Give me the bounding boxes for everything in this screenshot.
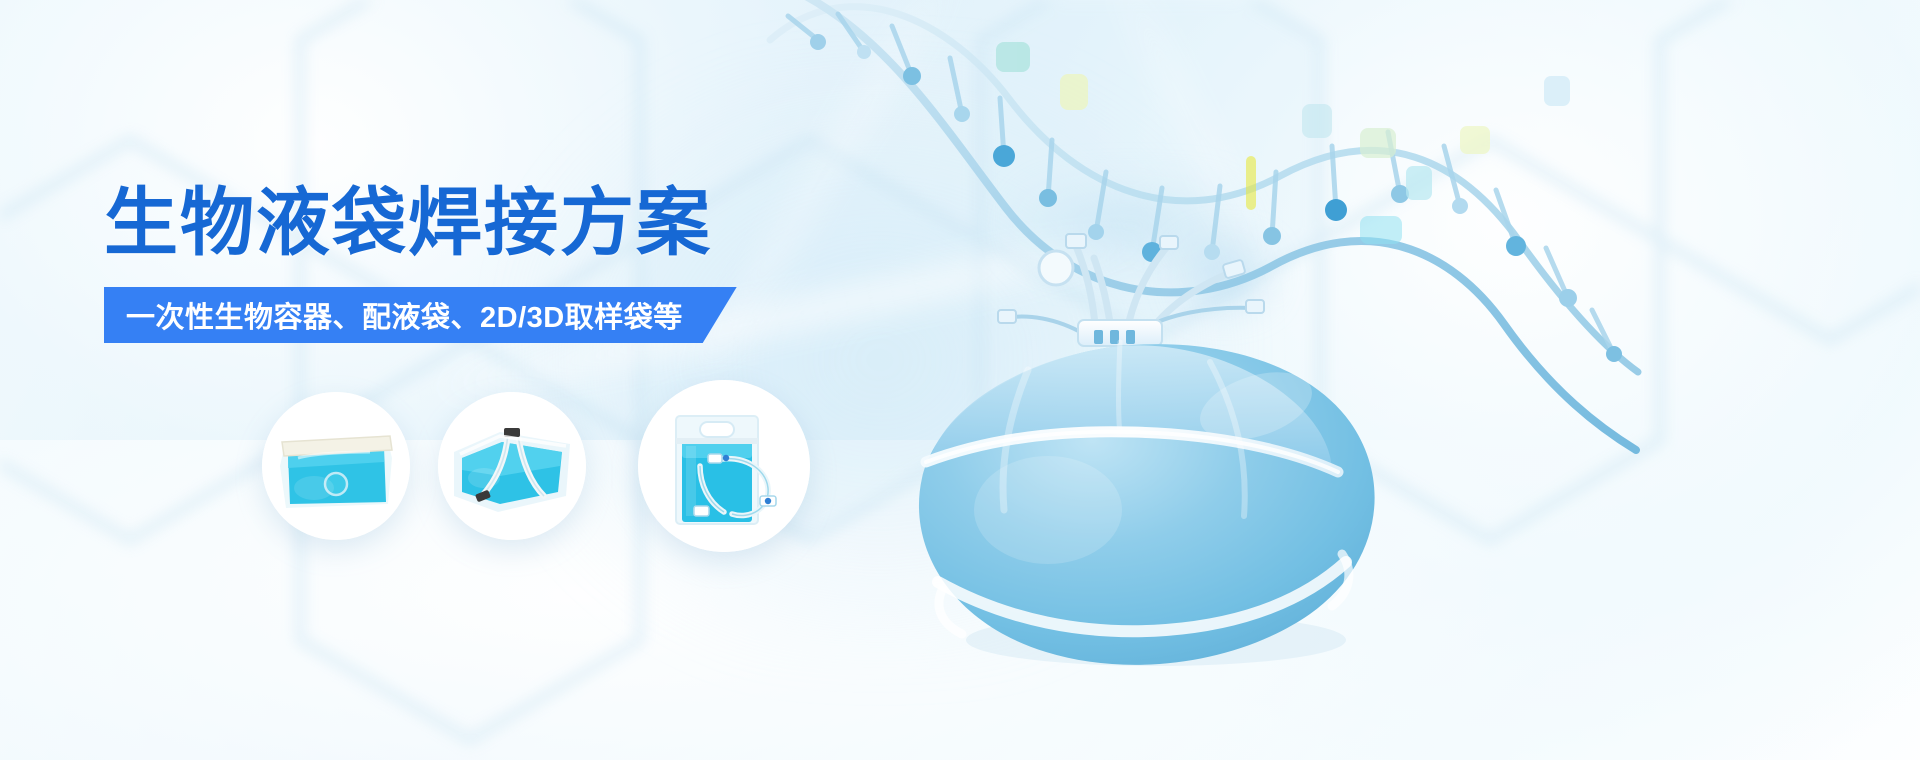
product-thumbnail-2[interactable] xyxy=(438,392,586,540)
subtitle-ribbon: 一次性生物容器、配液袋、2D/3D取样袋等 xyxy=(104,287,737,343)
hexagon-lattice-icon xyxy=(0,0,1920,760)
tubing-bag-icon xyxy=(438,392,586,540)
pillow-bag-icon xyxy=(262,392,410,540)
page-title: 生物液袋焊接方案 xyxy=(104,186,712,260)
hero-banner: 生物液袋焊接方案 一次性生物容器、配液袋、2D/3D取样袋等 xyxy=(0,0,1920,760)
product-thumbnail-3[interactable] xyxy=(638,380,810,552)
sampling-bag-icon xyxy=(638,380,810,552)
bokeh-blob xyxy=(1150,232,1300,318)
product-thumbnail-1[interactable] xyxy=(262,392,410,540)
